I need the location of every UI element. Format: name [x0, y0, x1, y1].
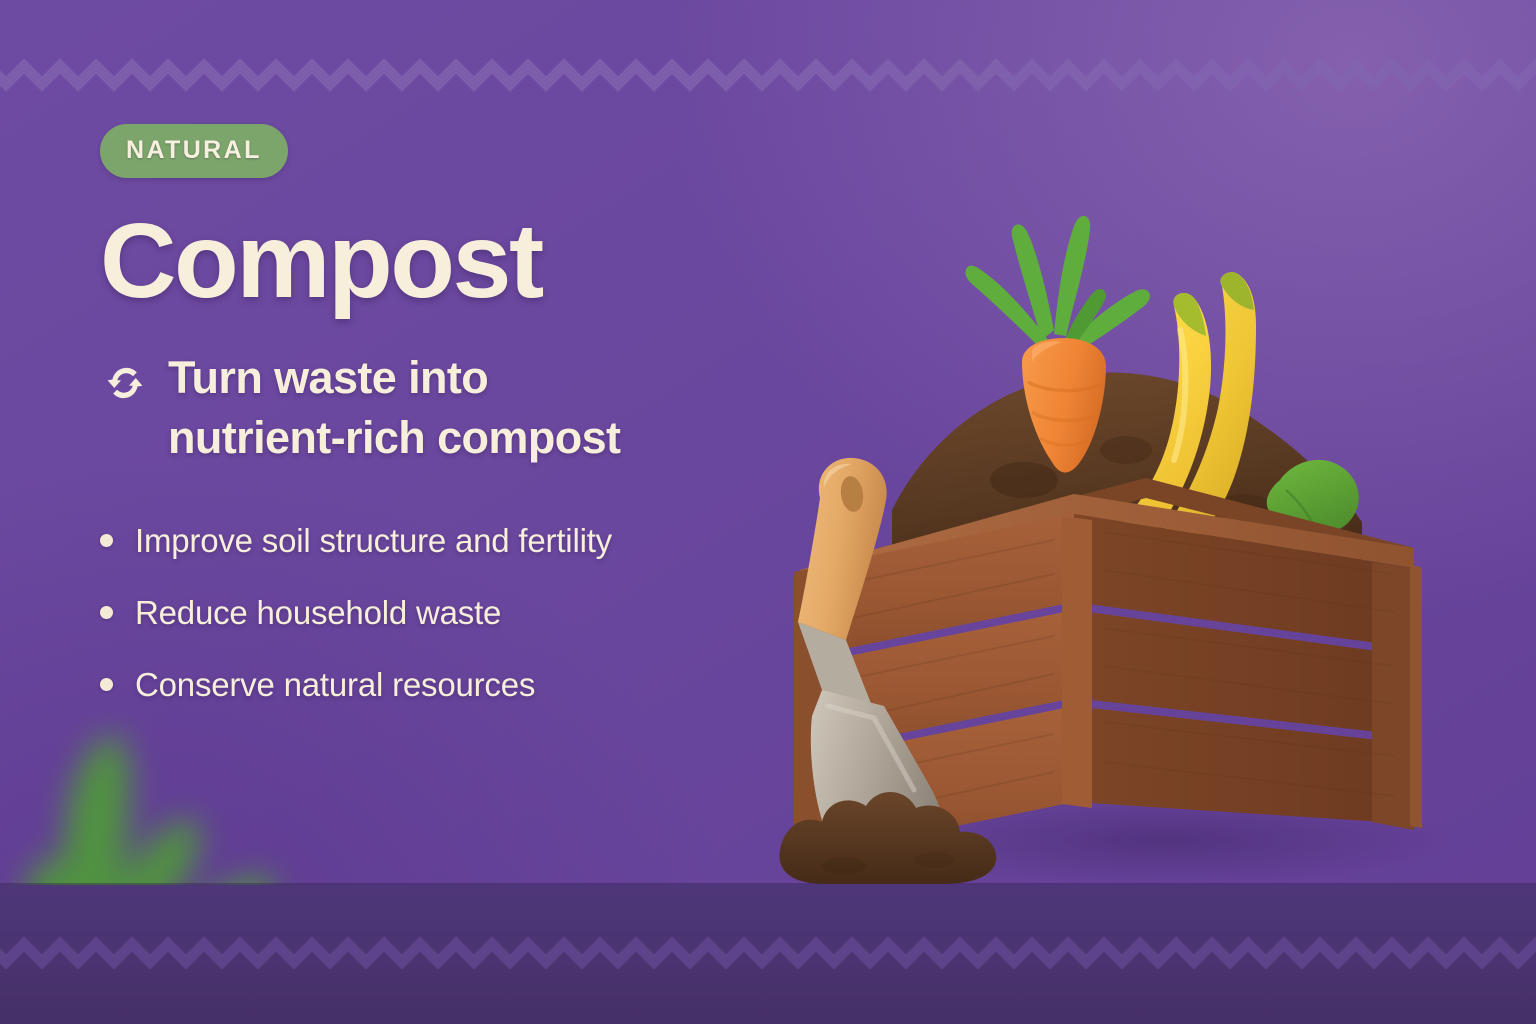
bullet-dot-icon	[100, 534, 113, 547]
subtitle-text: Turn waste into nutrient-rich compost	[168, 348, 620, 468]
list-item-label: Improve soil structure and fertility	[135, 522, 612, 560]
crate-corner-post-center	[1062, 516, 1092, 808]
zigzag-band-top	[0, 50, 1536, 96]
list-item-label: Reduce household waste	[135, 594, 501, 632]
carrot-greens	[965, 216, 1149, 356]
footer-band	[0, 885, 1536, 1024]
subtitle-block: Turn waste into nutrient-rich compost	[100, 348, 800, 468]
subtitle-line-2: nutrient-rich compost	[168, 408, 620, 468]
list-item: Improve soil structure and fertility	[100, 522, 800, 560]
text-content: NATURAL Compost Turn waste into nutrient…	[100, 124, 800, 738]
page-title: Compost	[100, 208, 800, 314]
crate-corner-post-right	[1372, 562, 1414, 830]
recycle-icon	[100, 358, 150, 408]
status-badge: NATURAL	[100, 124, 288, 178]
bullet-dot-icon	[100, 606, 113, 619]
bullet-dot-icon	[100, 678, 113, 691]
subtitle-line-1: Turn waste into	[168, 348, 620, 408]
compost-crate-illustration	[774, 150, 1514, 890]
benefits-list: Improve soil structure and fertility Red…	[100, 522, 800, 704]
list-item: Conserve natural resources	[100, 666, 800, 704]
list-item-label: Conserve natural resources	[135, 666, 535, 704]
compost-banner: NATURAL Compost Turn waste into nutrient…	[0, 0, 1536, 1024]
list-item: Reduce household waste	[100, 594, 800, 632]
